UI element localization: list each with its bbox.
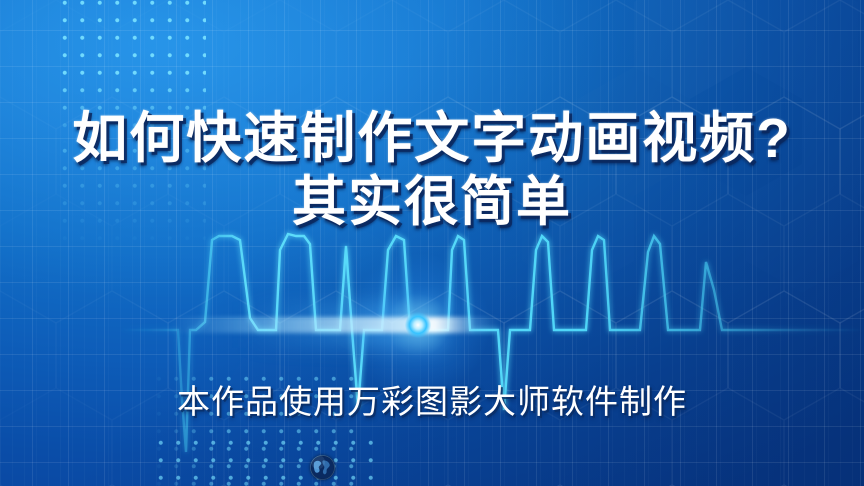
title-block: 如何快速制作文字动画视频? 其实很简单 xyxy=(0,106,864,234)
title-line-1: 如何快速制作文字动画视频? xyxy=(0,106,864,170)
glow-flare-core xyxy=(405,312,431,338)
globe-icon xyxy=(310,455,335,480)
glow-flare-streak xyxy=(170,317,500,333)
title-line-2: 其实很简单 xyxy=(0,170,864,234)
slide-canvas: 如何快速制作文字动画视频? 其实很简单 本作品使用万彩图影大师软件制作 xyxy=(0,0,864,486)
subtitle-text: 本作品使用万彩图影大师软件制作 xyxy=(0,375,864,423)
